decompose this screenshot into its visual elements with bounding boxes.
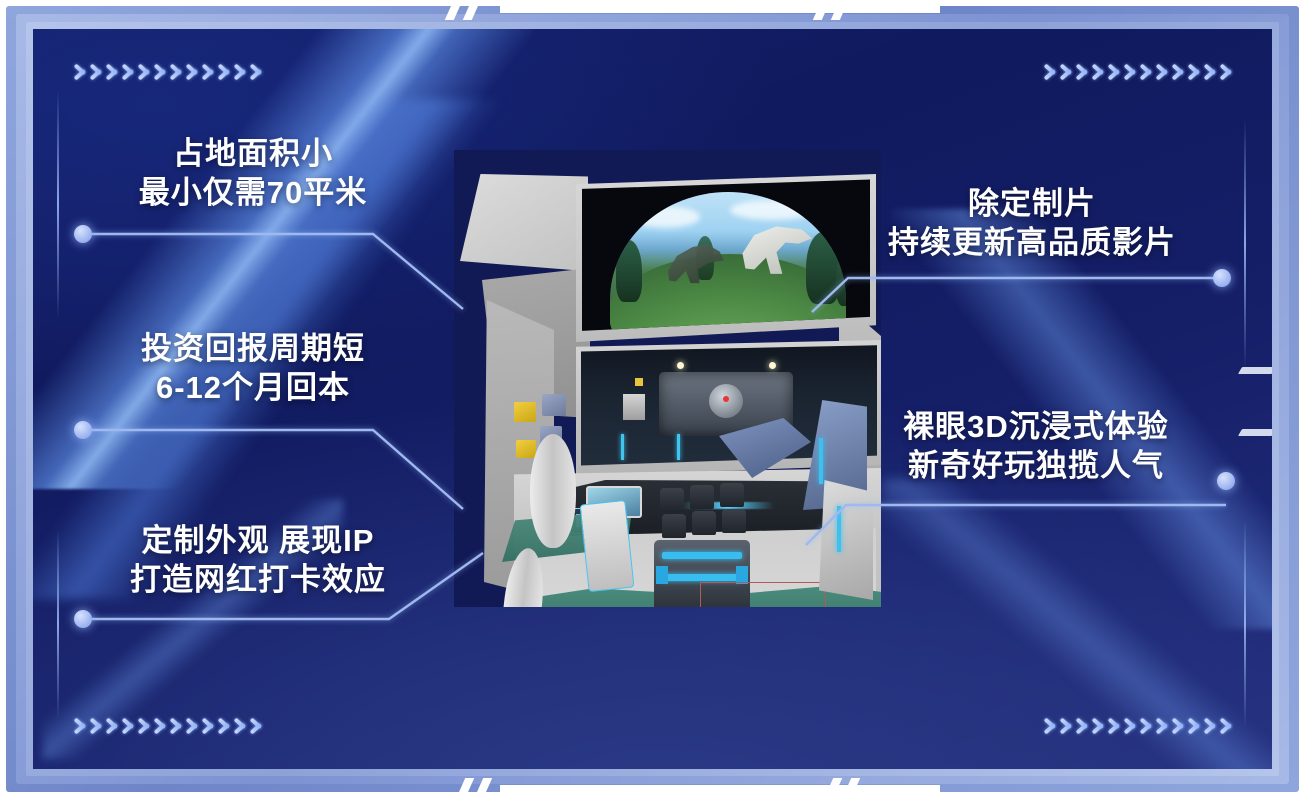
chevron-right-icon: [1219, 57, 1232, 87]
chevron-right-icon: [137, 57, 150, 87]
callout-footprint-line2: 最小仅需70平米: [73, 173, 433, 212]
chevron-strip-bottom-left: [73, 711, 262, 741]
accent-line-left: [57, 89, 59, 319]
chevron-right-icon: [217, 57, 230, 87]
callout-content-line1: 除定制片: [832, 184, 1232, 223]
callout-roi-period: 投资回报周期短 6-12个月回本: [73, 329, 433, 407]
accent-line-right: [1244, 119, 1246, 369]
chevron-right-icon: [217, 711, 230, 741]
callout-naked-eye-3d: 裸眼3D沉浸式体验 新奇好玩独揽人气: [836, 407, 1236, 485]
chevron-right-icon: [73, 57, 86, 87]
callout-dot-roi-period: [74, 421, 92, 439]
chevron-right-icon: [185, 57, 198, 87]
chevron-right-icon: [1155, 57, 1168, 87]
chevron-right-icon: [137, 711, 150, 741]
callout-footprint: 占地面积小 最小仅需70平米: [73, 134, 433, 212]
callout-footprint-line1: 占地面积小: [73, 134, 433, 173]
render-queue-rail: [700, 582, 826, 607]
chevron-right-icon: [169, 711, 182, 741]
chevron-right-icon: [1139, 711, 1152, 741]
connector-line-footprint: [73, 209, 473, 329]
callout-dot-footprint: [74, 225, 92, 243]
chevron-right-icon: [1043, 57, 1056, 87]
chevron-right-icon: [249, 57, 262, 87]
chevron-right-icon: [1123, 57, 1136, 87]
chevron-right-icon: [1171, 711, 1184, 741]
chevron-right-icon: [201, 711, 214, 741]
poster-canvas: 占地面积小 最小仅需70平米 投资回报周期短 6-12个月回本 定制外观 展现I…: [0, 0, 1305, 798]
accent-line-right-lower: [1244, 519, 1246, 729]
chevron-right-icon: [121, 711, 134, 741]
chevron-right-icon: [1171, 57, 1184, 87]
chevron-right-icon: [1219, 711, 1232, 741]
chevron-right-icon: [185, 711, 198, 741]
connector-line-roi-period: [73, 404, 473, 524]
frame-notch-right: [1238, 367, 1272, 374]
callout-content-updates: 除定制片 持续更新高品质影片: [832, 184, 1232, 262]
chevron-right-icon: [169, 57, 182, 87]
chevron-right-icon: [153, 57, 166, 87]
frame-cut-top: [500, 0, 940, 13]
connector-line-naked-eye-3d: [806, 479, 1236, 559]
chevron-right-icon: [73, 711, 86, 741]
chevron-right-icon: [89, 57, 102, 87]
connector-line-custom-appearance: [73, 529, 493, 639]
frame-cut-bottom: [500, 785, 940, 798]
chevron-right-icon: [249, 711, 262, 741]
accent-line-left-lower: [57, 529, 59, 719]
chevron-strip-bottom-right: [1043, 711, 1232, 741]
chevron-right-icon: [233, 57, 246, 87]
chevron-right-icon: [1203, 711, 1216, 741]
callout-roi-line1: 投资回报周期短: [73, 329, 433, 368]
render-seat-group: [660, 488, 748, 544]
chevron-right-icon: [121, 57, 134, 87]
chevron-right-icon: [1155, 711, 1168, 741]
chevron-right-icon: [201, 57, 214, 87]
chevron-right-icon: [1123, 711, 1136, 741]
chevron-right-icon: [1203, 57, 1216, 87]
dome-projection-image: [610, 192, 846, 334]
main-panel: 占地面积小 最小仅需70平米 投资回报周期短 6-12个月回本 定制外观 展现I…: [33, 29, 1272, 769]
chevron-right-icon: [233, 711, 246, 741]
callout-dot-custom-appearance: [74, 610, 92, 628]
frame-notch-right: [1238, 429, 1272, 436]
chevron-right-icon: [89, 711, 102, 741]
chevron-right-icon: [1187, 57, 1200, 87]
chevron-right-icon: [1059, 57, 1072, 87]
render-escalator: [580, 500, 635, 592]
chevron-right-icon: [1107, 57, 1120, 87]
chevron-strip-top-right: [1043, 57, 1232, 87]
callout-dot-naked-eye-3d: [1217, 472, 1235, 490]
chevron-right-icon: [1091, 57, 1104, 87]
chevron-right-icon: [1075, 711, 1088, 741]
chevron-right-icon: [1139, 57, 1152, 87]
callout-dot-content-updates: [1213, 269, 1231, 287]
chevron-right-icon: [1187, 711, 1200, 741]
callout-3d-line1: 裸眼3D沉浸式体验: [836, 407, 1236, 446]
chevron-right-icon: [1043, 711, 1056, 741]
chevron-right-icon: [1091, 711, 1104, 741]
connector-line-content-updates: [812, 254, 1232, 324]
chevron-right-icon: [105, 711, 118, 741]
chevron-right-icon: [105, 57, 118, 87]
chevron-right-icon: [1059, 711, 1072, 741]
callout-roi-line2: 6-12个月回本: [73, 368, 433, 407]
chevron-right-icon: [1107, 711, 1120, 741]
chevron-right-icon: [153, 711, 166, 741]
chevron-right-icon: [1075, 57, 1088, 87]
chevron-strip-top-left: [73, 57, 262, 87]
render-column: [530, 434, 576, 548]
